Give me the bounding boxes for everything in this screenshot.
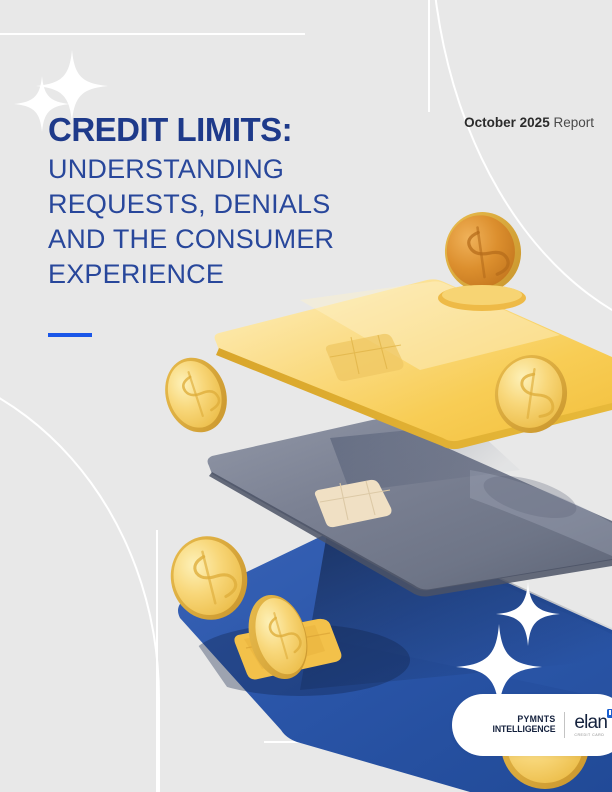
- coin-left-upper: [156, 350, 237, 441]
- page-title: CREDIT LIMITS: UNDERSTANDING REQUESTS, D…: [48, 112, 408, 292]
- title-sub-line-4: EXPERIENCE: [48, 257, 408, 292]
- report-cover-page: CREDIT LIMITS: UNDERSTANDING REQUESTS, D…: [0, 0, 612, 792]
- pymnts-intelligence-logo: PYMNTS INTELLIGENCE: [492, 715, 555, 736]
- accent-bar: [48, 333, 92, 337]
- report-meta: October 2025 Report: [464, 115, 594, 130]
- title-sub-line-2: REQUESTS, DENIALS: [48, 187, 408, 222]
- elan-tagline: Credit Card: [574, 733, 607, 737]
- title-sub-line-3: AND THE CONSUMER: [48, 222, 408, 257]
- logo-lockup: PYMNTS INTELLIGENCE elan Credit Card: [452, 694, 612, 756]
- elan-badge-icon: [607, 709, 612, 718]
- report-label: Report: [553, 115, 594, 130]
- coin-top-right-flat: [438, 285, 526, 311]
- elan-wordmark: elan: [574, 713, 607, 732]
- logo-divider: [564, 712, 565, 738]
- title-sub-line-1: UNDERSTANDING: [48, 152, 408, 187]
- coin-top-right: [440, 207, 526, 297]
- report-date: October 2025: [464, 115, 550, 130]
- elan-logo: elan Credit Card: [574, 713, 607, 737]
- title-main-line: CREDIT LIMITS:: [48, 112, 408, 149]
- pymnts-logo-line-2: INTELLIGENCE: [492, 725, 555, 735]
- title-subtitle: UNDERSTANDING REQUESTS, DENIALS AND THE …: [48, 152, 408, 292]
